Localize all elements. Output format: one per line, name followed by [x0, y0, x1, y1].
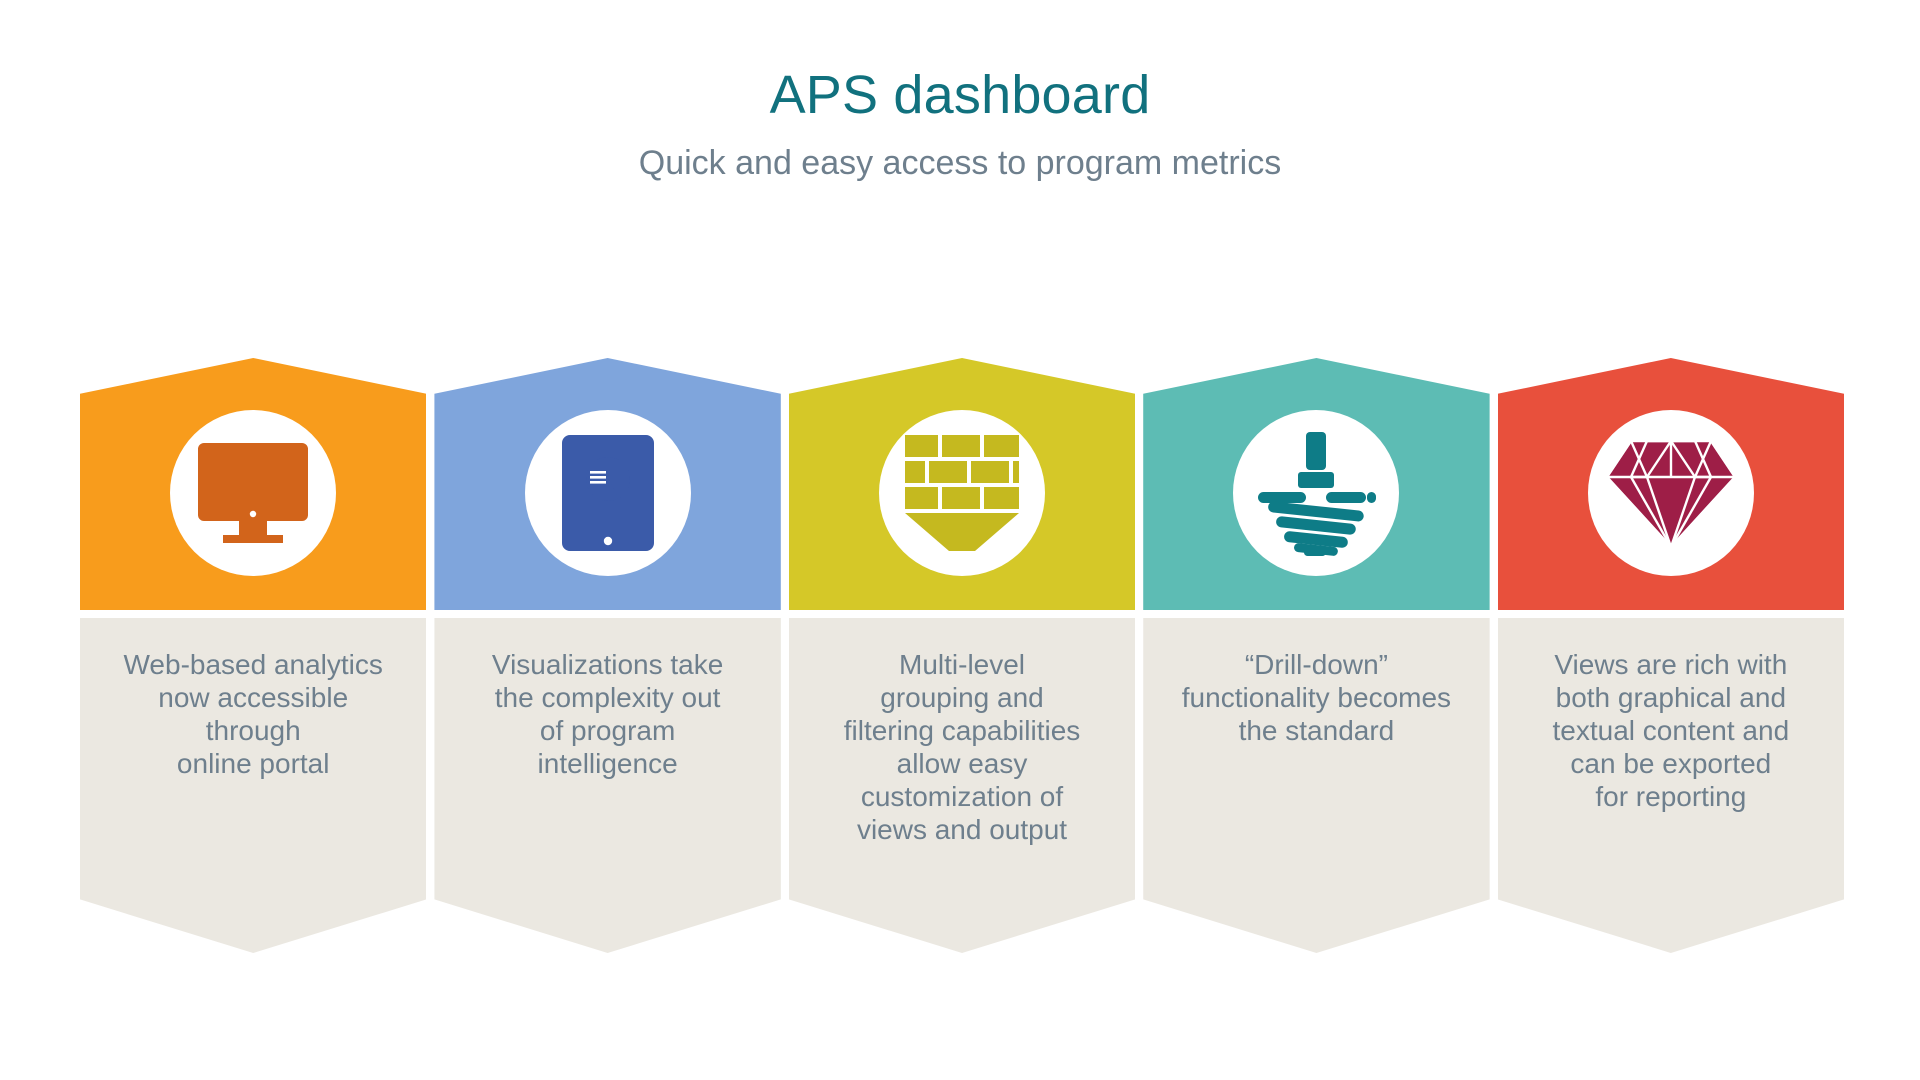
column-header-5 — [1498, 358, 1844, 610]
slide-header: APS dashboard Quick and easy access to p… — [0, 66, 1920, 183]
brick-wall-funnel-icon — [903, 435, 1021, 551]
column-body-5: Views are rich with both graphical and t… — [1498, 618, 1844, 953]
column-header-3 — [789, 358, 1135, 610]
column-body-1: Web-based analytics now accessible throu… — [80, 618, 426, 953]
icon-badge-3 — [879, 410, 1045, 576]
column-text-2: Visualizations take the complexity out o… — [434, 648, 780, 780]
icon-badge-1 — [170, 410, 336, 576]
feature-column-2[interactable]: Visualizations take the complexity out o… — [434, 358, 780, 953]
column-text-1: Web-based analytics now accessible throu… — [80, 648, 426, 780]
column-body-3: Multi-level grouping and filtering capab… — [789, 618, 1135, 953]
column-text-4: “Drill-down” functionality becomes the s… — [1143, 648, 1489, 747]
column-header-2 — [434, 358, 780, 610]
monitor-analytics-icon — [198, 441, 308, 545]
tablet-charts-icon — [562, 435, 654, 551]
column-body-2: Visualizations take the complexity out o… — [434, 618, 780, 953]
page-subtitle: Quick and easy access to program metrics — [0, 145, 1920, 182]
diamond-gem-icon — [1607, 437, 1735, 549]
column-header-4 — [1143, 358, 1489, 610]
drill-bit-icon — [1254, 430, 1378, 556]
page-title: APS dashboard — [0, 66, 1920, 125]
icon-badge-2 — [525, 410, 691, 576]
feature-column-5[interactable]: Views are rich with both graphical and t… — [1498, 358, 1844, 953]
column-body-4: “Drill-down” functionality becomes the s… — [1143, 618, 1489, 953]
feature-columns: Web-based analytics now accessible throu… — [80, 358, 1844, 953]
icon-badge-5 — [1588, 410, 1754, 576]
feature-column-1[interactable]: Web-based analytics now accessible throu… — [80, 358, 426, 953]
column-text-5: Views are rich with both graphical and t… — [1498, 648, 1844, 813]
column-header-1 — [80, 358, 426, 610]
slide-canvas: APS dashboard Quick and easy access to p… — [0, 0, 1920, 1080]
column-text-3: Multi-level grouping and filtering capab… — [789, 648, 1135, 846]
feature-column-3[interactable]: Multi-level grouping and filtering capab… — [789, 358, 1135, 953]
feature-column-4[interactable]: “Drill-down” functionality becomes the s… — [1143, 358, 1489, 953]
icon-badge-4 — [1233, 410, 1399, 576]
